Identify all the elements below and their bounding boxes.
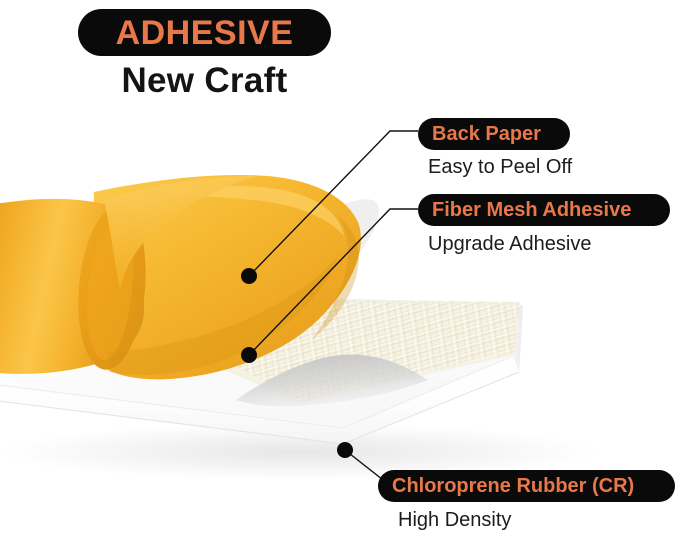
callout-pill-back-paper: Back Paper — [418, 118, 570, 150]
title-badge: ADHESIVE — [78, 9, 331, 56]
callout-title-back-paper: Back Paper — [432, 124, 541, 144]
callout-subtitle-fiber-mesh: Upgrade Adhesive — [428, 234, 591, 254]
callout-title-chloroprene: Chloroprene Rubber (CR) — [392, 476, 634, 496]
page-subtitle: New Craft — [78, 62, 331, 101]
callout-title-fiber-mesh: Fiber Mesh Adhesive — [432, 200, 631, 220]
callout-pill-chloroprene: Chloroprene Rubber (CR) — [378, 470, 675, 502]
leader-dot-back-paper — [241, 268, 257, 284]
title-badge-label: ADHESIVE — [116, 16, 294, 50]
callout-subtitle-back-paper: Easy to Peel Off — [428, 157, 572, 177]
adhesive-infographic: ADHESIVE New Craft Back Paper Easy to Pe… — [0, 0, 679, 536]
callout-pill-fiber-mesh: Fiber Mesh Adhesive — [418, 194, 670, 226]
leader-dot-chloroprene — [337, 442, 353, 458]
leader-dot-fiber-mesh — [241, 347, 257, 363]
callout-subtitle-chloroprene: High Density — [398, 510, 511, 530]
